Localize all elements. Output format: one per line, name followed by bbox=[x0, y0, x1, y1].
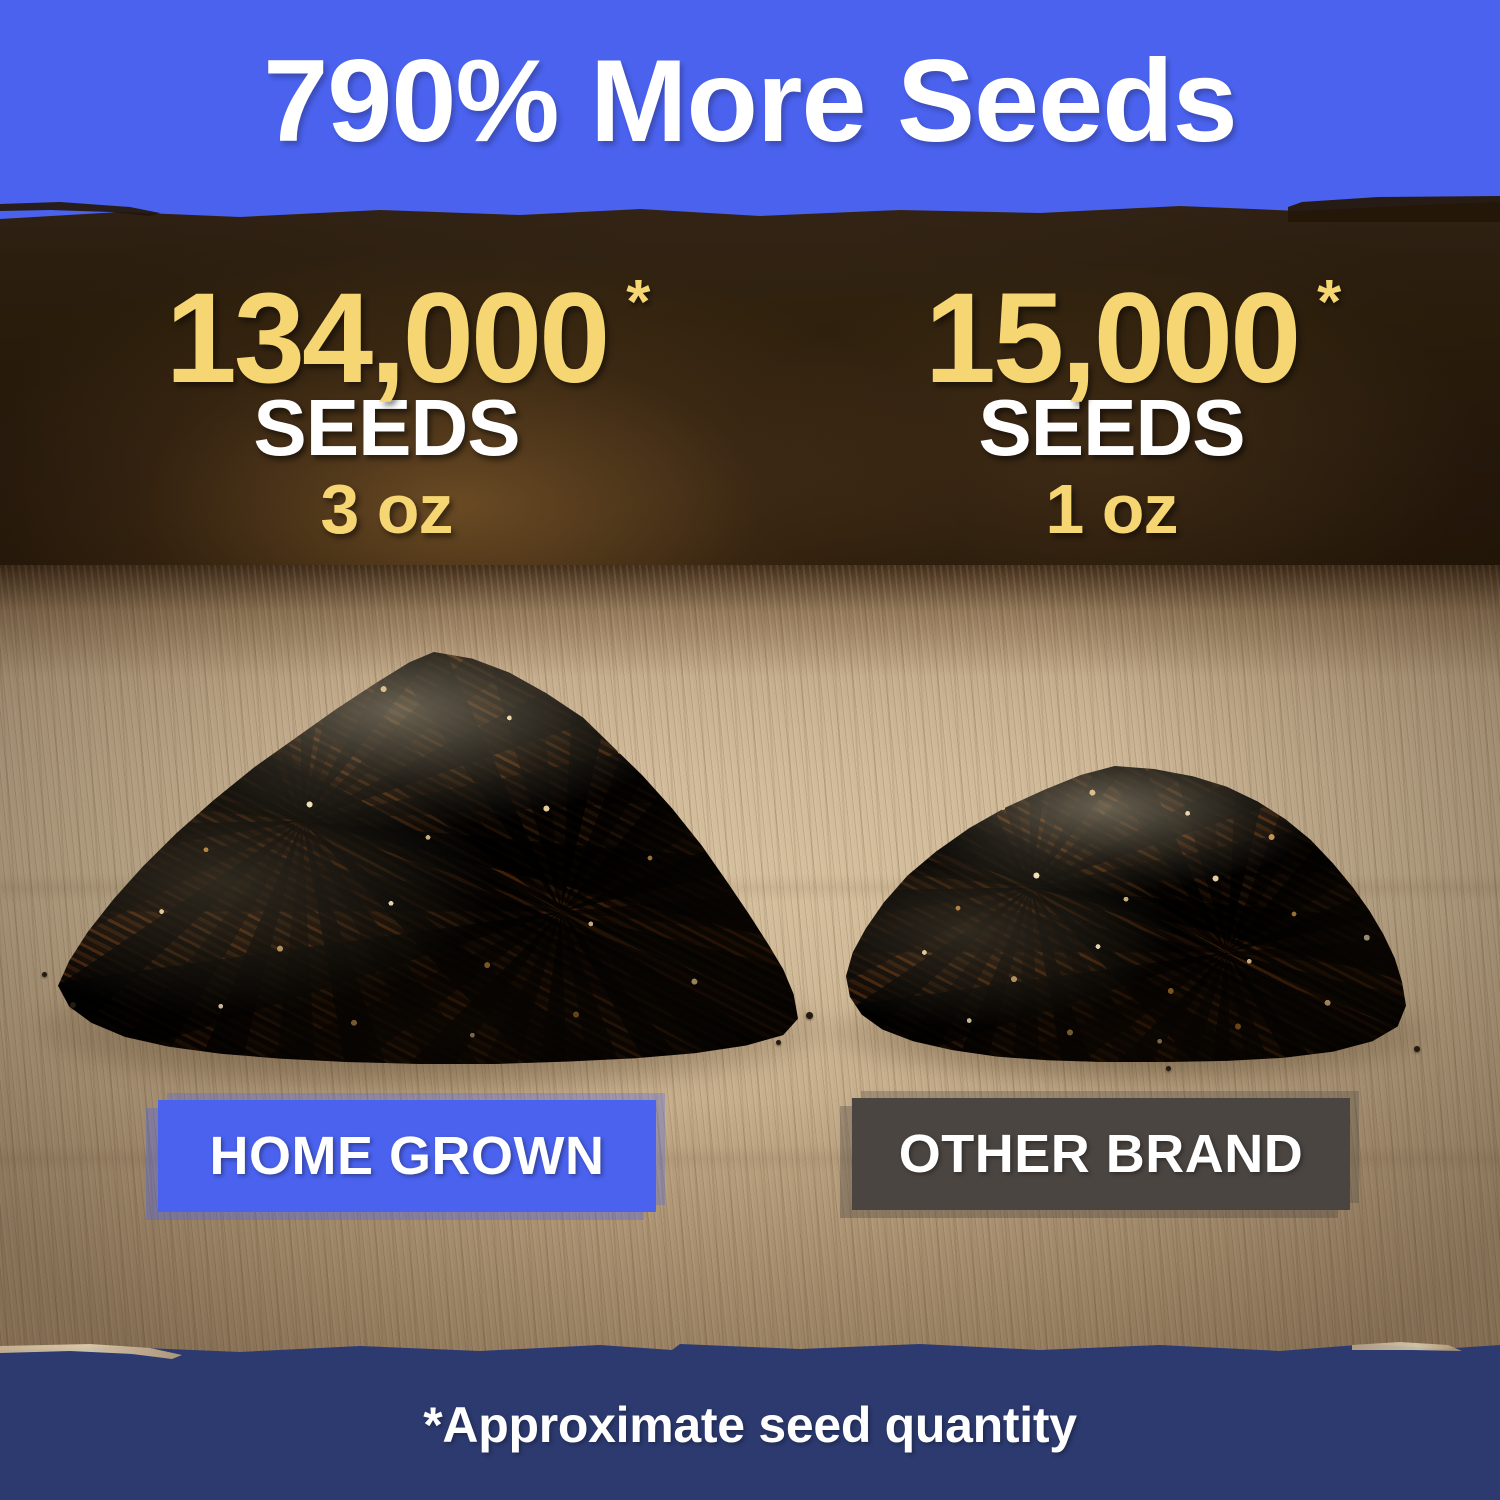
seed-count-other-brand: 15,000 * bbox=[925, 278, 1299, 400]
seed-count-home-grown: 134,000 * bbox=[166, 278, 608, 400]
comparison-stats-row: 134,000 * SEEDS 3 oz 15,000 * SEEDS 1 oz bbox=[0, 278, 1500, 598]
badge-label: OTHER BRAND bbox=[852, 1098, 1350, 1210]
seed-pile-lighting bbox=[846, 766, 1406, 1062]
spilled-seed bbox=[1166, 1066, 1171, 1071]
weight-label-home-grown: 3 oz bbox=[24, 474, 749, 544]
seed-pile-lighting bbox=[58, 652, 798, 1064]
label-badge-home-grown[interactable]: HOME GROWN bbox=[158, 1100, 656, 1212]
stat-block-home-grown: 134,000 * SEEDS 3 oz bbox=[0, 278, 749, 598]
footnote-asterisk: * bbox=[1317, 272, 1338, 334]
seed-count-value: 134,000 bbox=[166, 267, 608, 410]
seed-count-value: 15,000 bbox=[925, 267, 1299, 410]
page-title: 790% More Seeds bbox=[0, 0, 1500, 200]
label-badge-other-brand[interactable]: OTHER BRAND bbox=[852, 1098, 1350, 1210]
badge-label: HOME GROWN bbox=[158, 1100, 656, 1212]
spilled-seed bbox=[776, 1040, 781, 1045]
infographic-poster: 790% More Seeds 134,000 * SEEDS 3 oz 15,… bbox=[0, 0, 1500, 1500]
spilled-seed bbox=[42, 972, 47, 977]
spilled-seed bbox=[70, 1002, 76, 1008]
spilled-seed bbox=[806, 1012, 813, 1019]
stat-block-other-brand: 15,000 * SEEDS 1 oz bbox=[749, 278, 1500, 598]
spilled-seed bbox=[1414, 1046, 1420, 1052]
weight-label-other-brand: 1 oz bbox=[749, 474, 1474, 544]
footnote-asterisk: * bbox=[626, 272, 647, 334]
disclaimer-text: *Approximate seed quantity bbox=[0, 1350, 1500, 1500]
seed-pile-other-brand bbox=[846, 766, 1406, 1062]
seed-pile-home-grown bbox=[58, 652, 798, 1064]
